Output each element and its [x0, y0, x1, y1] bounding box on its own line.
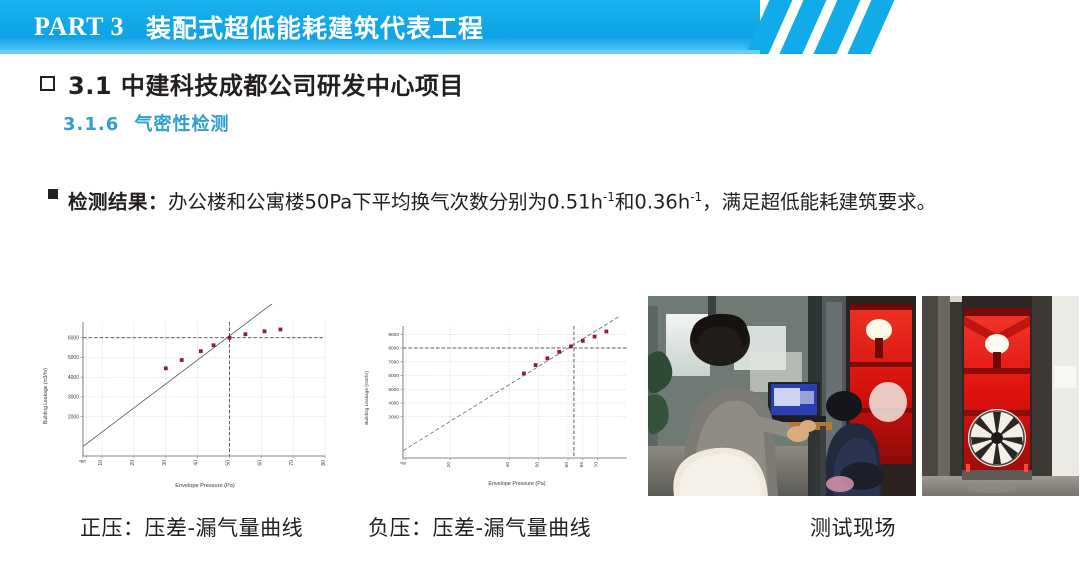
negative-pressure-chart-svg: 3000400050006000700080009000 45204050606… [355, 312, 633, 490]
header-part-label: PART 3 [34, 12, 124, 42]
result-block: 检测结果：办公楼和公寓楼50Pa下平均换气次数分别为0.51h-1和0.36h-… [48, 180, 1048, 220]
svg-text:5000: 5000 [68, 355, 79, 361]
svg-text:6000: 6000 [68, 335, 79, 341]
svg-text:60: 60 [564, 462, 570, 468]
result-superscript-1: -1 [603, 190, 615, 204]
slide-header: PART 3 装配式超低能耗建筑代表工程 [0, 0, 1080, 54]
hollow-square-bullet-icon [40, 76, 55, 91]
result-text-part-3: ，满足超低能耗建筑要求。 [702, 191, 936, 214]
svg-text:50: 50 [535, 462, 541, 468]
svg-text:5000: 5000 [388, 387, 399, 393]
subsection-number: 3.1.6 [63, 114, 119, 135]
svg-text:4000: 4000 [388, 401, 399, 407]
subsection-heading: 3.1.6 气密性检测 [63, 110, 230, 136]
svg-text:3000: 3000 [388, 414, 399, 420]
chart-2-gridlines [403, 326, 627, 458]
svg-text:40: 40 [505, 462, 511, 468]
chart-1-reference-lines [83, 322, 325, 456]
svg-text:6000: 6000 [388, 373, 399, 379]
section-heading-text: 3.1 中建科技成都公司研发中心项目 [68, 66, 464, 101]
result-text-part-1: 办公楼和公寓楼50Pa下平均换气次数分别为0.51h [168, 191, 603, 214]
svg-text:5: 5 [402, 462, 408, 465]
svg-text:70: 70 [594, 462, 600, 468]
caption-test-site: 测试现场 [810, 512, 896, 542]
svg-text:9000: 9000 [388, 332, 399, 338]
chart-2-x-axis-label: Envelope Pressure (Pa) [488, 481, 545, 487]
blower-door-fan-photo [922, 296, 1079, 496]
svg-text:50: 50 [225, 460, 231, 466]
blower-door-test-photo [648, 296, 916, 496]
result-text: 检测结果：办公楼和公寓楼50Pa下平均换气次数分别为0.51h-1和0.36h-… [68, 180, 936, 220]
svg-text:5: 5 [82, 460, 88, 463]
svg-text:4000: 4000 [68, 375, 79, 381]
blower-door-fan-photo-illustration [922, 296, 1079, 496]
chart-1-y-tick-labels: 20003000400050006000 [68, 335, 83, 420]
chart-2-y-tick-labels: 3000400050006000700080009000 [388, 332, 403, 421]
header-title-group: PART 3 装配式超低能耗建筑代表工程 [34, 7, 484, 47]
chart-2-x-tick-labels: 45204050606570 [399, 458, 600, 467]
result-label: 检测结果： [68, 191, 168, 214]
chart-1-x-tick-labels: 451020304050607080 [79, 456, 327, 466]
caption-row: 正压：压差-漏气量曲线 负压：压差-漏气量曲线 测试现场 [0, 512, 1080, 552]
chart-1-y-axis-label: Building Leakage (m3/hr) [43, 368, 49, 424]
svg-text:3000: 3000 [68, 395, 79, 401]
result-text-part-2: 和0.36h [615, 191, 690, 214]
svg-text:20: 20 [446, 462, 452, 468]
svg-text:30: 30 [162, 460, 168, 466]
chart-1-trend-line [83, 304, 294, 446]
svg-text:65: 65 [579, 462, 585, 468]
svg-text:2000: 2000 [68, 414, 79, 420]
caption-negative-pressure: 负压：压差-漏气量曲线 [368, 512, 591, 542]
svg-text:70: 70 [289, 460, 295, 466]
result-row: 检测结果：办公楼和公寓楼50Pa下平均换气次数分别为0.51h-1和0.36h-… [48, 180, 1048, 220]
svg-text:80: 80 [321, 460, 327, 466]
header-main-title: 装配式超低能耗建筑代表工程 [146, 9, 484, 45]
chart-2-reference-lines [403, 326, 627, 458]
negative-pressure-chart: 3000400050006000700080009000 45204050606… [355, 312, 633, 490]
subsection-title: 气密性检测 [135, 114, 230, 135]
svg-text:20: 20 [130, 460, 136, 466]
figure-row: 20003000400050006000 451020304050607080 … [0, 292, 1080, 507]
svg-text:10: 10 [98, 460, 104, 466]
filled-square-bullet-icon [48, 189, 58, 199]
svg-text:8000: 8000 [388, 346, 399, 352]
chart-1-data-points [164, 328, 282, 371]
svg-text:40: 40 [194, 460, 200, 466]
chart-2-y-axis-label: Building Leakage (m3/hr) [364, 371, 370, 425]
chart-1-gridlines [83, 322, 325, 456]
blower-door-test-photo-illustration [648, 296, 916, 496]
chart-1-x-axis-label: Envelope Pressure (Pa) [175, 483, 235, 489]
chart-2-trend-line [403, 317, 619, 451]
section-heading: 3.1 中建科技成都公司研发中心项目 [40, 66, 464, 101]
result-superscript-2: -1 [690, 190, 702, 204]
positive-pressure-chart: 20003000400050006000 451020304050607080 … [33, 304, 333, 494]
svg-text:60: 60 [257, 460, 263, 466]
header-underline [0, 50, 760, 54]
positive-pressure-chart-svg: 20003000400050006000 451020304050607080 … [33, 304, 333, 494]
caption-positive-pressure: 正压：压差-漏气量曲线 [80, 512, 303, 542]
svg-text:7000: 7000 [388, 359, 399, 365]
